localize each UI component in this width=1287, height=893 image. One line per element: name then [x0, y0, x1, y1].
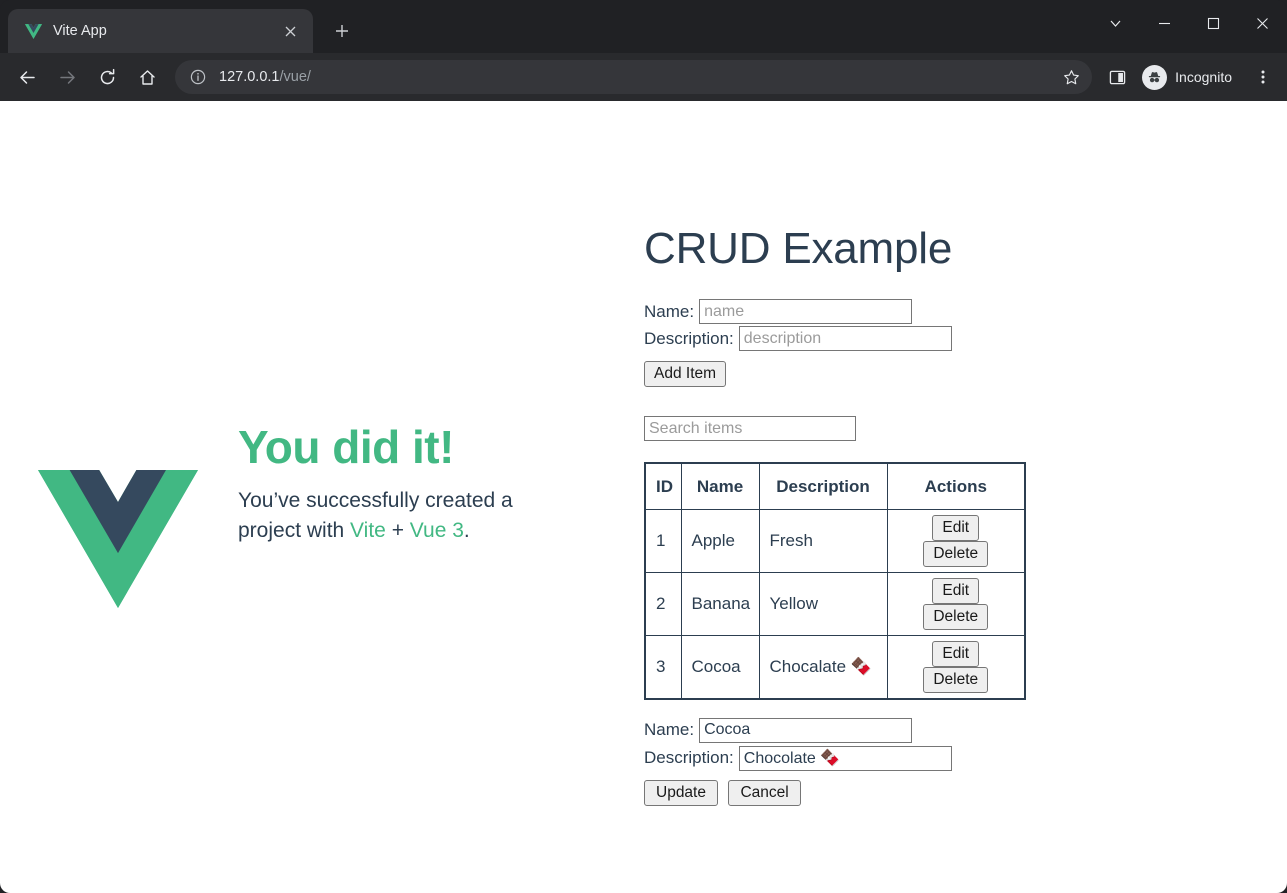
table-header-row: ID Name Description Actions — [645, 463, 1025, 509]
side-panel-icon[interactable] — [1100, 60, 1134, 94]
arrow-left-icon[interactable] — [8, 58, 46, 96]
vue3-link[interactable]: Vue 3 — [410, 519, 464, 542]
cell-actions: Edit Delete — [887, 509, 1025, 572]
incognito-hat-icon — [1142, 65, 1167, 90]
cell-actions: Edit Delete — [887, 572, 1025, 635]
incognito-label: Incognito — [1175, 69, 1232, 85]
cell-description: Chocalate 🍫 — [759, 635, 887, 699]
vue-logo-icon — [24, 22, 42, 40]
vite-link[interactable]: Vite — [350, 519, 386, 542]
table-row: 1 Apple Fresh Edit Delete — [645, 509, 1025, 572]
table-row: 2 Banana Yellow Edit Delete — [645, 572, 1025, 635]
search-input[interactable] — [644, 416, 856, 441]
window-controls — [1091, 0, 1287, 47]
url-text: 127.0.0.1/vue/ — [219, 69, 1056, 85]
items-table: ID Name Description Actions 1 Apple Fres… — [644, 462, 1026, 700]
column-header-actions: Actions — [887, 463, 1025, 509]
edit-description-row: Description: — [644, 746, 1084, 771]
add-item-row: Add Item — [644, 361, 1084, 387]
items-table-body: 1 Apple Fresh Edit Delete 2 Banana Yello… — [645, 509, 1025, 699]
cancel-button[interactable]: Cancel — [728, 780, 800, 806]
address-bar[interactable]: 127.0.0.1/vue/ — [175, 60, 1092, 94]
add-description-label: Description: — [644, 328, 734, 350]
edit-name-label: Name: — [644, 719, 694, 741]
info-circle-icon[interactable] — [187, 66, 209, 88]
search-row — [644, 416, 1084, 441]
page-title: CRUD Example — [644, 225, 1084, 273]
table-row: 3 Cocoa Chocalate 🍫 Edit Delete — [645, 635, 1025, 699]
browser-tab-vite-app[interactable]: Vite App — [8, 9, 313, 53]
cell-name: Cocoa — [681, 635, 759, 699]
star-icon[interactable] — [1056, 62, 1086, 92]
add-name-row: Name: — [644, 299, 1084, 324]
cell-name: Banana — [681, 572, 759, 635]
close-window-icon[interactable] — [1238, 0, 1287, 47]
three-dots-vertical-icon[interactable] — [1246, 58, 1280, 96]
column-header-description: Description — [759, 463, 887, 509]
add-description-input[interactable] — [739, 326, 952, 351]
browser-window: Vite App — [0, 0, 1287, 893]
minimize-icon[interactable] — [1140, 0, 1189, 47]
crud-panel: CRUD Example Name: Description: Add Item — [644, 225, 1084, 806]
page-content: You did it! You’ve successfully created … — [0, 101, 1287, 893]
cell-id: 1 — [645, 509, 681, 572]
new-tab-button[interactable] — [325, 14, 359, 48]
incognito-profile-chip[interactable]: Incognito — [1138, 61, 1244, 93]
edit-name-row: Name: — [644, 718, 1084, 743]
tab-strip: Vite App — [0, 0, 1287, 53]
url-path: /vue/ — [279, 69, 310, 85]
url-host: 127.0.0.1 — [219, 69, 279, 85]
browser-toolbar: 127.0.0.1/vue/ Incognito — [0, 53, 1287, 101]
update-button[interactable]: Update — [644, 780, 718, 806]
delete-button[interactable]: Delete — [923, 604, 988, 630]
page-viewport: You did it! You’ve successfully created … — [0, 101, 1287, 893]
maximize-icon[interactable] — [1189, 0, 1238, 47]
cell-id: 2 — [645, 572, 681, 635]
cell-id: 3 — [645, 635, 681, 699]
cell-name: Apple — [681, 509, 759, 572]
cell-description: Fresh — [759, 509, 887, 572]
delete-button[interactable]: Delete — [923, 667, 988, 693]
vue-welcome-hero: You did it! You’ve successfully created … — [38, 421, 558, 619]
hero-text-block: You did it! You’ve successfully created … — [238, 421, 558, 546]
edit-button[interactable]: Edit — [932, 641, 979, 667]
edit-description-label: Description: — [644, 747, 734, 769]
hero-sub-plus: + — [386, 519, 410, 542]
tab-title: Vite App — [53, 23, 273, 39]
edit-form-buttons: Update Cancel — [644, 780, 1084, 806]
edit-button[interactable]: Edit — [932, 515, 979, 541]
edit-button[interactable]: Edit — [932, 578, 979, 604]
vue-logo-icon — [38, 459, 198, 619]
add-name-label: Name: — [644, 301, 694, 323]
cell-actions: Edit Delete — [887, 635, 1025, 699]
home-icon[interactable] — [128, 58, 166, 96]
column-header-name: Name — [681, 463, 759, 509]
add-name-input[interactable] — [699, 299, 912, 324]
column-header-id: ID — [645, 463, 681, 509]
close-icon[interactable] — [277, 18, 303, 44]
items-table-head: ID Name Description Actions — [645, 463, 1025, 509]
hero-subtitle: You’ve successfully created a project wi… — [238, 486, 558, 546]
delete-button[interactable]: Delete — [923, 541, 988, 567]
add-description-row: Description: — [644, 326, 1084, 351]
hero-sub-suffix: . — [464, 519, 470, 542]
edit-description-input[interactable] — [739, 746, 952, 771]
hero-title: You did it! — [238, 421, 558, 474]
edit-name-input[interactable] — [699, 718, 912, 743]
chevron-down-icon[interactable] — [1091, 0, 1140, 47]
add-item-form: Name: Description: Add Item — [644, 299, 1084, 387]
edit-item-form: Name: Description: Update Cancel — [644, 718, 1084, 806]
cell-description: Yellow — [759, 572, 887, 635]
arrow-right-icon[interactable] — [48, 58, 86, 96]
add-item-button[interactable]: Add Item — [644, 361, 726, 387]
reload-icon[interactable] — [88, 58, 126, 96]
